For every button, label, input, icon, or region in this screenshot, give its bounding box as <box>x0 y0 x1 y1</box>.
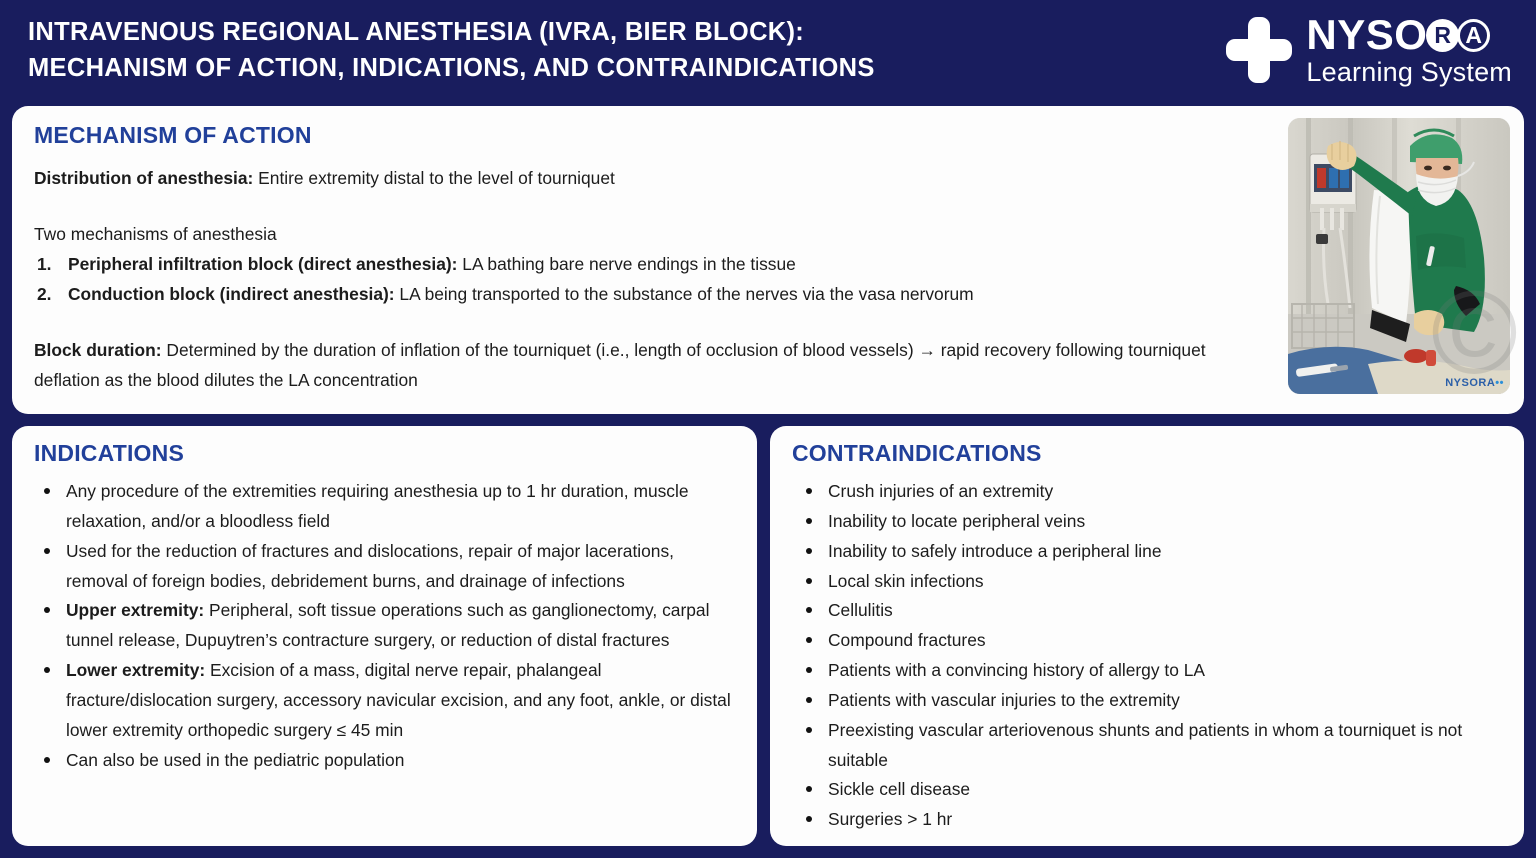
mechanism-list: 1. Peripheral infiltration block (direct… <box>34 250 1219 310</box>
list-item-text: Surgeries > 1 hr <box>828 809 952 829</box>
block-duration-text: Determined by the duration of inflation … <box>34 340 1206 390</box>
clinician-tourniquet-photo: NYSORA•• <box>1288 118 1510 394</box>
list-item: Patients with a convincing history of al… <box>800 656 1506 686</box>
list-item-text: Crush injuries of an extremity <box>828 481 1053 501</box>
list-item-text: Compound fractures <box>828 630 986 650</box>
page-header: INTRAVENOUS REGIONAL ANESTHESIA (IVRA, B… <box>0 0 1536 100</box>
list-item: Upper extremity: Peripheral, soft tissue… <box>38 596 739 656</box>
logo-r-circle-icon: R <box>1426 19 1459 52</box>
photo-watermark-text: NYSORA <box>1445 377 1495 389</box>
list-item: Any procedure of the extremities requiri… <box>38 477 739 537</box>
list-item: Cellulitis <box>800 596 1506 626</box>
contraindications-card: CONTRAINDICATIONS Crush injuries of an e… <box>770 426 1524 846</box>
list-item: Crush injuries of an extremity <box>800 477 1506 507</box>
list-item-text: LA being transported to the substance of… <box>395 284 974 304</box>
photo-watermark: NYSORA•• <box>1445 377 1504 389</box>
page-title-line-1: INTRAVENOUS REGIONAL ANESTHESIA (IVRA, B… <box>28 18 804 46</box>
list-item-text: Can also be used in the pediatric popula… <box>66 750 404 770</box>
list-item: Used for the reduction of fractures and … <box>38 537 739 597</box>
list-item: Surgeries > 1 hr <box>800 805 1506 835</box>
photo-illustration <box>1288 118 1510 394</box>
logo-o: O <box>1394 14 1427 56</box>
list-item: Compound fractures <box>800 626 1506 656</box>
distribution-line: Distribution of anesthesia: Entire extre… <box>34 164 1219 194</box>
list-item-text: Local skin infections <box>828 571 984 591</box>
list-item: 1. Peripheral infiltration block (direct… <box>34 250 1219 280</box>
logo-a-circle-icon: A <box>1457 19 1490 52</box>
block-duration-line: Block duration: Determined by the durati… <box>34 336 1219 396</box>
list-item-label: Lower extremity: <box>66 660 205 680</box>
logo-subtitle: Learning System <box>1306 59 1512 86</box>
list-item: Inability to locate peripheral veins <box>800 507 1506 537</box>
list-item-text: Patients with vascular injuries to the e… <box>828 690 1180 710</box>
list-item-text: Inability to locate peripheral veins <box>828 511 1085 531</box>
list-item-label: Conduction block (indirect anesthesia): <box>68 284 395 304</box>
list-item: Can also be used in the pediatric popula… <box>38 746 739 776</box>
list-item-label: Upper extremity: <box>66 600 204 620</box>
mechanism-body: Distribution of anesthesia: Entire extre… <box>34 164 1219 396</box>
list-item-text: LA bathing bare nerve endings in the tis… <box>457 254 795 274</box>
photo-watermark-dots: •• <box>1495 377 1504 389</box>
distribution-text: Entire extremity distal to the level of … <box>253 168 615 188</box>
mechanism-of-action-card: MECHANISM OF ACTION Distribution of anes… <box>12 106 1524 414</box>
spacer <box>34 194 1219 220</box>
list-item-text: Any procedure of the extremities requiri… <box>66 481 689 531</box>
distribution-label: Distribution of anesthesia: <box>34 168 253 188</box>
contraindications-title: CONTRAINDICATIONS <box>792 440 1524 467</box>
contraindications-list: Crush injuries of an extremity Inability… <box>770 477 1524 835</box>
list-item: Sickle cell disease <box>800 775 1506 805</box>
list-item: Local skin infections <box>800 567 1506 597</box>
list-item-text: Sickle cell disease <box>828 779 970 799</box>
list-number: 1. <box>37 250 52 280</box>
list-item: 2. Conduction block (indirect anesthesia… <box>34 280 1219 310</box>
list-item: Patients with vascular injuries to the e… <box>800 686 1506 716</box>
list-item: Lower extremity: Excision of a mass, dig… <box>38 656 739 746</box>
indications-list: Any procedure of the extremities requiri… <box>12 477 757 775</box>
list-item: Preexisting vascular arteriovenous shunt… <box>800 716 1506 776</box>
list-item: Inability to safely introduce a peripher… <box>800 537 1506 567</box>
logo-nys: NYS <box>1306 14 1394 56</box>
block-duration-label: Block duration: <box>34 340 162 360</box>
list-item-text: Used for the reduction of fractures and … <box>66 541 674 591</box>
list-item-label: Peripheral infiltration block (direct an… <box>68 254 457 274</box>
indications-card: INDICATIONS Any procedure of the extremi… <box>12 426 757 846</box>
list-number: 2. <box>37 280 52 310</box>
list-item-text: Cellulitis <box>828 600 893 620</box>
logo-wordmark: NYS O R A <box>1306 14 1512 56</box>
list-item-text: Patients with a convincing history of al… <box>828 660 1205 680</box>
logo-text: NYS O R A Learning System <box>1306 14 1512 86</box>
list-item-text: Preexisting vascular arteriovenous shunt… <box>828 720 1462 770</box>
medical-cross-icon <box>1226 17 1292 83</box>
page-title-line-2: MECHANISM OF ACTION, INDICATIONS, AND CO… <box>28 50 1168 86</box>
page-title: INTRAVENOUS REGIONAL ANESTHESIA (IVRA, B… <box>28 14 1168 86</box>
list-item-text: Inability to safely introduce a peripher… <box>828 541 1162 561</box>
nysora-logo: NYS O R A Learning System <box>1226 8 1512 92</box>
indications-title: INDICATIONS <box>34 440 757 467</box>
spacer <box>34 310 1219 336</box>
two-mechanisms-intro: Two mechanisms of anesthesia <box>34 220 1219 250</box>
